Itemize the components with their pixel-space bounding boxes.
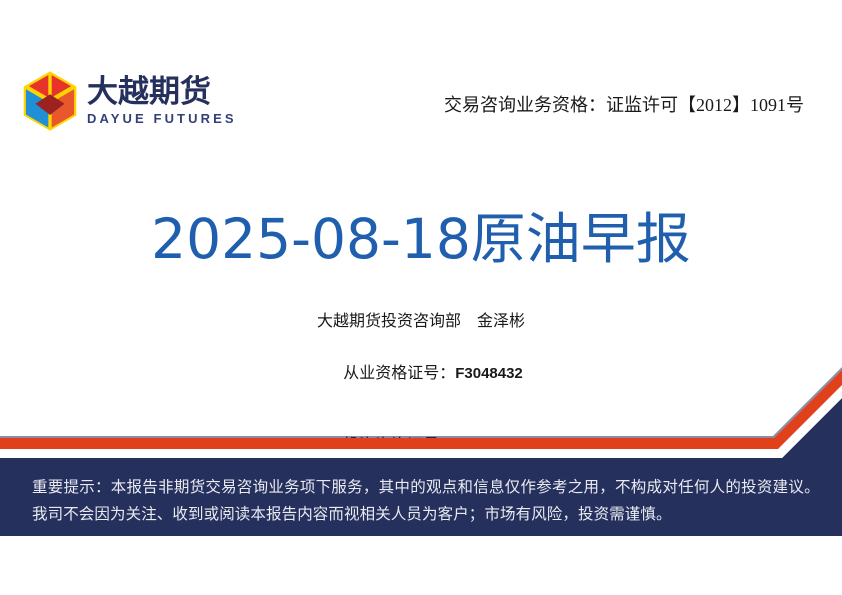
consulting-certificate-label: 投资咨询证号： xyxy=(343,437,455,454)
disclaimer-text: 重要提示：本报告非期货交易咨询业务项下服务，其中的观点和信息仅作参考之用，不构成… xyxy=(32,474,812,528)
practice-certificate-label: 从业资格证号： xyxy=(343,365,455,382)
report-cover-page: 大越期货 DAYUE FUTURES 交易咨询业务资格：证监许可【2012】10… xyxy=(0,0,842,595)
license-statement: 交易咨询业务资格：证监许可【2012】1091号 xyxy=(444,92,804,118)
logo-english-name: DAYUE FUTURES xyxy=(87,111,237,127)
disclaimer-bar: 重要提示：本报告非期货交易咨询业务项下服务，其中的观点和信息仅作参考之用，不构成… xyxy=(0,463,842,536)
page-title: 2025-08-18原油早报 xyxy=(0,206,842,272)
hexagon-cube-logo-icon xyxy=(22,70,78,132)
department-line: 大越期货投资咨询部 金泽彬 xyxy=(0,310,842,334)
practice-certificate-value: F3048432 xyxy=(455,365,523,382)
company-logo: 大越期货 DAYUE FUTURES xyxy=(22,70,237,132)
logo-chinese-name: 大越期货 xyxy=(87,75,237,109)
practice-certificate-line: 从业资格证号：F3048432 xyxy=(0,338,842,410)
logo-wordmark: 大越期货 DAYUE FUTURES xyxy=(87,75,237,127)
consulting-certificate-value: Z0015557 xyxy=(455,437,523,454)
page-header: 大越期货 DAYUE FUTURES 交易咨询业务资格：证监许可【2012】10… xyxy=(0,0,842,160)
